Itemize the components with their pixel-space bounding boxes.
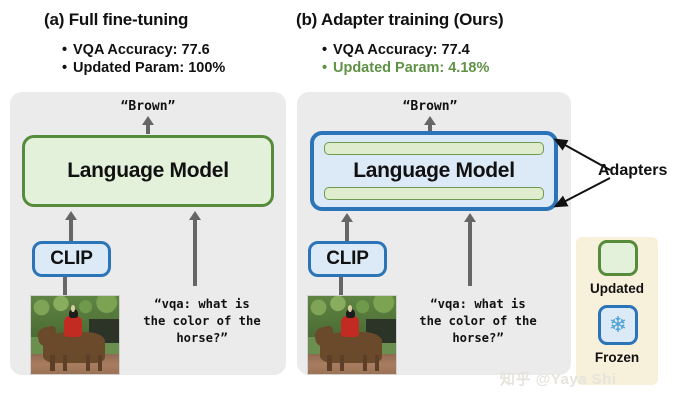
panel-a-title: (a) Full fine-tuning [44, 10, 188, 30]
panel-b-bullet-1-label: VQA Accuracy: 77.4 [333, 41, 470, 59]
legend-swatch-updated [598, 240, 638, 276]
panel-b-bullet-2-label: Updated Param: 4.18% [333, 59, 489, 77]
figure-root: (a) Full fine-tuning • VQA Accuracy: 77.… [0, 0, 682, 402]
panel-b-bullets: • VQA Accuracy: 77.4 • Updated Param: 4.… [322, 41, 489, 77]
panel-b-language-model-box: Language Model [310, 131, 558, 211]
panel-b-clip-box: CLIP [308, 241, 387, 277]
panel-b-input-image [307, 295, 397, 375]
panel-a-prompt-text: “vqa: what is the color of the horse?” [124, 296, 280, 347]
panel-b-output-text: “Brown” [380, 99, 480, 114]
panel-b-image-connector [339, 277, 343, 295]
panel-b-language-model-label: Language Model [353, 159, 514, 183]
panel-a-language-model-label: Language Model [67, 159, 228, 183]
snowflake-icon: ❄ [609, 314, 627, 336]
adapter-bar-bottom [324, 187, 544, 200]
panel-a-output-text: “Brown” [98, 99, 198, 114]
panel-a-bullet-1: • VQA Accuracy: 77.6 [62, 41, 225, 59]
panel-a-output-arrow [140, 116, 156, 134]
panel-b-clip-label: CLIP [326, 248, 368, 270]
panel-a-input-image [30, 295, 120, 375]
panel-a-text-arrow [187, 211, 203, 286]
panel-b-title: (b) Adapter training (Ours) [296, 10, 503, 30]
watermark: 知乎 @Yaya Shi [500, 368, 617, 389]
panel-a-clip-box: CLIP [32, 241, 111, 277]
panel-a-image-connector [63, 277, 67, 295]
panel-a-bullet-2: • Updated Param: 100% [62, 59, 225, 77]
legend-label-updated: Updated [576, 281, 658, 296]
panel-a-clip-label: CLIP [50, 248, 92, 270]
panel-a-bullet-2-label: Updated Param: 100% [73, 59, 225, 77]
panel-b-prompt-text: “vqa: what is the color of the horse?” [400, 296, 556, 347]
bullet-dot-icon: • [62, 59, 73, 77]
panel-a-vision-arrow [63, 211, 79, 241]
legend-label-frozen: Frozen [576, 350, 658, 365]
legend-swatch-frozen: ❄ [598, 305, 638, 345]
panel-a-bullets: • VQA Accuracy: 77.6 • Updated Param: 10… [62, 41, 225, 77]
panel-b-text-arrow [462, 213, 478, 286]
panel-a-language-model-box: Language Model [22, 135, 274, 207]
bullet-dot-icon: • [62, 41, 73, 59]
bullet-dot-icon: • [322, 59, 333, 77]
adapter-bar-top [324, 142, 544, 155]
bullet-dot-icon: • [322, 41, 333, 59]
adapters-label: Adapters [598, 162, 667, 180]
panel-b-bullet-1: • VQA Accuracy: 77.4 [322, 41, 489, 59]
panel-a-bullet-1-label: VQA Accuracy: 77.6 [73, 41, 210, 59]
panel-b-bullet-2: • Updated Param: 4.18% [322, 59, 489, 77]
panel-b-vision-arrow [339, 213, 355, 241]
